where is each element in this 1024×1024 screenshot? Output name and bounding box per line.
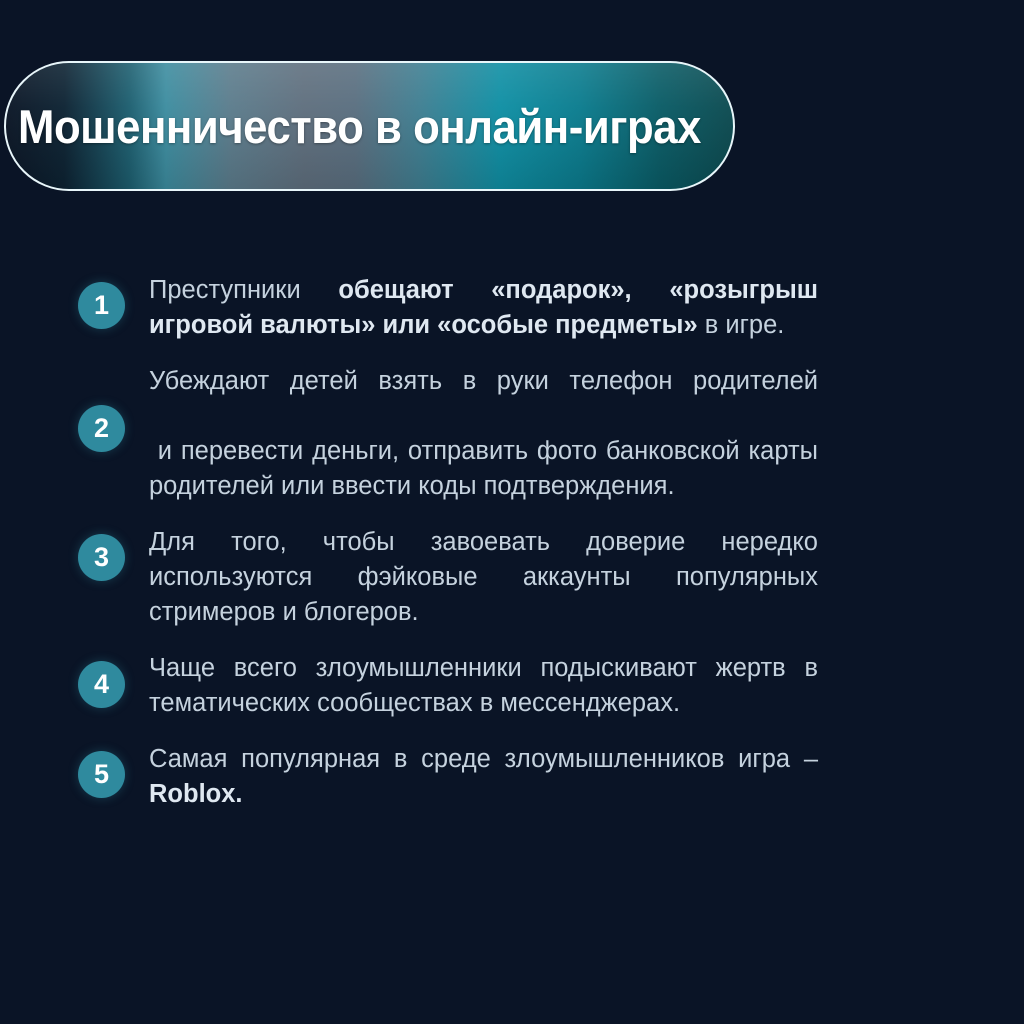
title-banner: Мошенничество в онлайн-играх <box>4 61 735 191</box>
point-number-badge: 2 <box>78 405 125 452</box>
list-item: 3 Для того, чтобы завоевать доверие нере… <box>78 524 818 630</box>
list-item: 1 Преступники обещают «подарок», «розыгр… <box>78 272 818 343</box>
point-text: Для того, чтобы завоевать доверие нередк… <box>149 524 818 630</box>
numbered-points-list: 1 Преступники обещают «подарок», «розыгр… <box>78 272 818 832</box>
point-number-badge: 1 <box>78 282 125 329</box>
point-number-badge: 3 <box>78 534 125 581</box>
point-text: Убеждают детей взять в руки телефон роди… <box>149 363 818 504</box>
point-number-badge: 4 <box>78 661 125 708</box>
page-title: Мошенничество в онлайн-играх <box>18 99 701 154</box>
point-number-badge: 5 <box>78 751 125 798</box>
point-text: Самая популярная в среде злоумышленников… <box>149 741 818 812</box>
point-text: Чаще всего злоумышленники подыскивают же… <box>149 650 818 721</box>
point-text: Преступники обещают «подарок», «розыгрыш… <box>149 272 818 343</box>
list-item: 5 Самая популярная в среде злоумышленник… <box>78 741 818 812</box>
list-item: 4 Чаще всего злоумышленники подыскивают … <box>78 650 818 721</box>
list-item: 2 Убеждают детей взять в руки телефон ро… <box>78 363 818 504</box>
